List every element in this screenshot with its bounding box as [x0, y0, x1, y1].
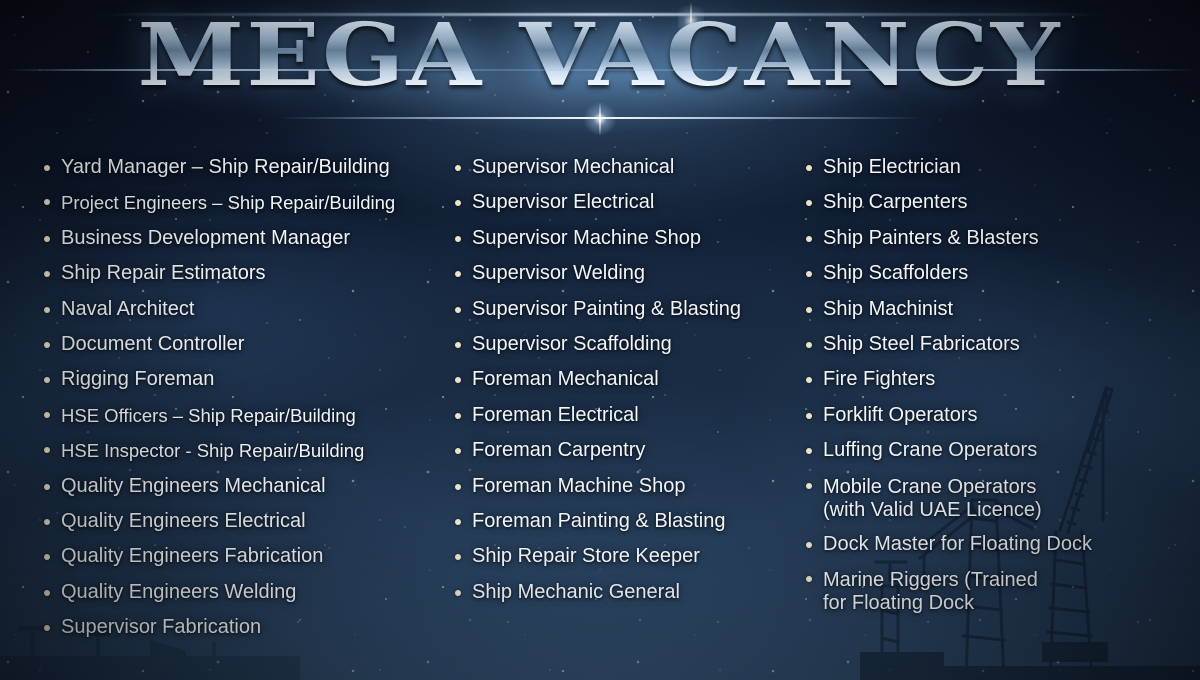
- bullet-dot-icon: [44, 307, 50, 313]
- vacancy-item: Luffing Crane Operators: [806, 433, 1136, 468]
- vacancy-item-label: Marine Riggers (Trainedfor Floating Dock: [823, 562, 1038, 620]
- bullet-dot-icon: [44, 554, 50, 560]
- vacancy-item-label: Foreman Mechanical: [472, 362, 659, 397]
- bullet-dot-icon: [44, 625, 50, 631]
- vacancy-item: Supervisor Painting & Blasting: [455, 292, 801, 327]
- vacancy-item: Yard Manager – Ship Repair/Building: [44, 150, 448, 185]
- vacancy-item: Ship Mechanic General: [455, 575, 801, 610]
- vacancy-item-label: Quality Engineers Welding: [61, 575, 296, 610]
- vacancy-item-label: HSE Officers – Ship Repair/Building: [61, 398, 356, 433]
- vacancy-item: HSE Officers – Ship Repair/Building: [44, 398, 448, 433]
- vacancy-item-label: Quality Engineers Mechanical: [61, 469, 326, 504]
- vacancy-column-2: Supervisor MechanicalSupervisor Electric…: [455, 150, 801, 610]
- vacancy-item-label: Naval Architect: [61, 292, 194, 327]
- bullet-dot-icon: [455, 413, 461, 419]
- bullet-dot-icon: [806, 377, 812, 383]
- vacancy-item: Fire Fighters: [806, 362, 1136, 397]
- bullet-dot-icon: [44, 165, 50, 171]
- bullet-dot-icon: [806, 200, 812, 206]
- flare-sparkle-bottom: [583, 102, 617, 136]
- bullet-dot-icon: [455, 377, 461, 383]
- vacancy-item: Ship Steel Fabricators: [806, 327, 1136, 362]
- vacancy-item-label: Ship Repair Store Keeper: [472, 539, 700, 574]
- vacancy-item-label-line2: (with Valid UAE Licence): [823, 497, 1042, 523]
- vacancy-item: Foreman Mechanical: [455, 362, 801, 397]
- vacancy-item: Supervisor Scaffolding: [455, 327, 801, 362]
- vacancy-item-label: Quality Engineers Electrical: [61, 504, 306, 539]
- vacancy-item-label: Ship Repair Estimators: [61, 256, 266, 291]
- vacancy-item-label: Forklift Operators: [823, 398, 977, 433]
- vacancy-item-label: Fire Fighters: [823, 362, 935, 397]
- vacancy-item: Quality Engineers Fabrication: [44, 539, 448, 574]
- vacancy-item-label: Business Development Manager: [61, 221, 350, 256]
- vacancy-item: Supervisor Electrical: [455, 185, 801, 220]
- vacancy-item-label: Foreman Painting & Blasting: [472, 504, 725, 539]
- vacancy-item: Foreman Painting & Blasting: [455, 504, 801, 539]
- vacancy-item-label: Ship Scaffolders: [823, 256, 968, 291]
- vacancy-item-label-line2: for Floating Dock: [823, 590, 1038, 616]
- vacancy-item-label: Ship Carpenters: [823, 185, 968, 220]
- bullet-dot-icon: [44, 412, 50, 418]
- vacancy-item: Ship Electrician: [806, 150, 1136, 185]
- vacancy-item-label: Ship Machinist: [823, 292, 953, 327]
- vacancy-item: Naval Architect: [44, 292, 448, 327]
- vacancy-item-label: Foreman Machine Shop: [472, 469, 685, 504]
- mega-vacancy-poster: MEGA VACANCY Yard Manager – Ship Repair/…: [0, 0, 1200, 680]
- vacancy-item-label: Yard Manager – Ship Repair/Building: [61, 150, 390, 185]
- vacancy-item-label: Supervisor Painting & Blasting: [472, 292, 741, 327]
- vacancy-item-label: Supervisor Electrical: [472, 185, 654, 220]
- bullet-dot-icon: [806, 448, 812, 454]
- vacancy-item-label: HSE Inspector - Ship Repair/Building: [61, 433, 364, 468]
- bullet-dot-icon: [44, 519, 50, 525]
- vacancy-item: Document Controller: [44, 327, 448, 362]
- bullet-dot-icon: [44, 590, 50, 596]
- vacancy-item-label: Document Controller: [61, 327, 244, 362]
- bullet-dot-icon: [806, 307, 812, 313]
- vacancy-item-label: Supervisor Fabrication: [61, 610, 261, 645]
- vacancy-column-3: Ship ElectricianShip CarpentersShip Pain…: [806, 150, 1136, 620]
- bullet-dot-icon: [455, 519, 461, 525]
- bullet-dot-icon: [806, 413, 812, 419]
- vacancy-item: Business Development Manager: [44, 221, 448, 256]
- lens-flare-middle: [5, 69, 1195, 71]
- vacancy-item-label: Ship Steel Fabricators: [823, 327, 1020, 362]
- bullet-dot-icon: [455, 448, 461, 454]
- vacancy-item-label: Foreman Electrical: [472, 398, 639, 433]
- bullet-dot-icon: [44, 377, 50, 383]
- bullet-dot-icon: [455, 484, 461, 490]
- bullet-dot-icon: [44, 199, 50, 205]
- bullet-dot-icon: [806, 236, 812, 242]
- vacancy-item: Supervisor Fabrication: [44, 610, 448, 645]
- bullet-dot-icon: [455, 590, 461, 596]
- vacancy-item: Ship Carpenters: [806, 185, 1136, 220]
- vacancy-item: HSE Inspector - Ship Repair/Building: [44, 433, 448, 468]
- vacancy-item: Marine Riggers (Trainedfor Floating Dock: [806, 562, 1136, 620]
- vacancy-item-label: Luffing Crane Operators: [823, 433, 1037, 468]
- bullet-dot-icon: [455, 271, 461, 277]
- vacancy-item: Foreman Electrical: [455, 398, 801, 433]
- vacancy-item: Ship Machinist: [806, 292, 1136, 327]
- vacancy-item-label: Supervisor Welding: [472, 256, 645, 291]
- bullet-dot-icon: [806, 342, 812, 348]
- bullet-dot-icon: [44, 236, 50, 242]
- vacancy-item-label: Rigging Foreman: [61, 362, 214, 397]
- vacancy-column-1: Yard Manager – Ship Repair/BuildingProje…: [44, 150, 448, 646]
- vacancy-item-label: Ship Painters & Blasters: [823, 221, 1039, 256]
- vacancy-item: Supervisor Mechanical: [455, 150, 801, 185]
- vacancy-item: Quality Engineers Mechanical: [44, 469, 448, 504]
- vacancy-item-label: Ship Mechanic General: [472, 575, 680, 610]
- bullet-dot-icon: [44, 342, 50, 348]
- vacancy-item: Forklift Operators: [806, 398, 1136, 433]
- bullet-dot-icon: [806, 165, 812, 171]
- vacancy-item: Foreman Machine Shop: [455, 469, 801, 504]
- vacancy-item: Quality Engineers Welding: [44, 575, 448, 610]
- vacancy-item: Quality Engineers Electrical: [44, 504, 448, 539]
- bullet-dot-icon: [44, 447, 50, 453]
- vacancy-item: Foreman Carpentry: [455, 433, 801, 468]
- vacancy-item: Ship Painters & Blasters: [806, 221, 1136, 256]
- vacancy-item: Ship Repair Store Keeper: [455, 539, 801, 574]
- vacancy-list: Yard Manager – Ship Repair/BuildingProje…: [0, 150, 1200, 680]
- vacancy-item-label: Quality Engineers Fabrication: [61, 539, 323, 574]
- bullet-dot-icon: [44, 484, 50, 490]
- vacancy-item: Supervisor Machine Shop: [455, 221, 801, 256]
- vacancy-item: Supervisor Welding: [455, 256, 801, 291]
- bullet-dot-icon: [806, 576, 812, 582]
- bullet-dot-icon: [455, 554, 461, 560]
- bullet-dot-icon: [455, 236, 461, 242]
- vacancy-item-label: Mobile Crane Operators(with Valid UAE Li…: [823, 469, 1042, 527]
- vacancy-item-label: Ship Electrician: [823, 150, 961, 185]
- vacancy-item-label: Supervisor Scaffolding: [472, 327, 672, 362]
- vacancy-item: Ship Repair Estimators: [44, 256, 448, 291]
- bullet-dot-icon: [455, 307, 461, 313]
- bullet-dot-icon: [455, 200, 461, 206]
- vacancy-item: Mobile Crane Operators(with Valid UAE Li…: [806, 469, 1136, 527]
- vacancy-item: Ship Scaffolders: [806, 256, 1136, 291]
- bullet-dot-icon: [44, 271, 50, 277]
- title-banner: MEGA VACANCY: [0, 0, 1200, 150]
- page-title: MEGA VACANCY: [138, 0, 1062, 100]
- vacancy-item: Rigging Foreman: [44, 362, 448, 397]
- vacancy-item-label: Dock Master for Floating Dock: [823, 527, 1092, 562]
- vacancy-item-label: Supervisor Machine Shop: [472, 221, 701, 256]
- bullet-dot-icon: [806, 271, 812, 277]
- vacancy-item: Dock Master for Floating Dock: [806, 527, 1136, 562]
- vacancy-item: Project Engineers – Ship Repair/Building: [44, 185, 448, 220]
- bullet-dot-icon: [455, 342, 461, 348]
- bullet-dot-icon: [806, 483, 812, 489]
- bullet-dot-icon: [806, 542, 812, 548]
- bullet-dot-icon: [455, 165, 461, 171]
- vacancy-item-label: Project Engineers – Ship Repair/Building: [61, 185, 395, 220]
- vacancy-item-label: Foreman Carpentry: [472, 433, 645, 468]
- vacancy-item-label: Supervisor Mechanical: [472, 150, 674, 185]
